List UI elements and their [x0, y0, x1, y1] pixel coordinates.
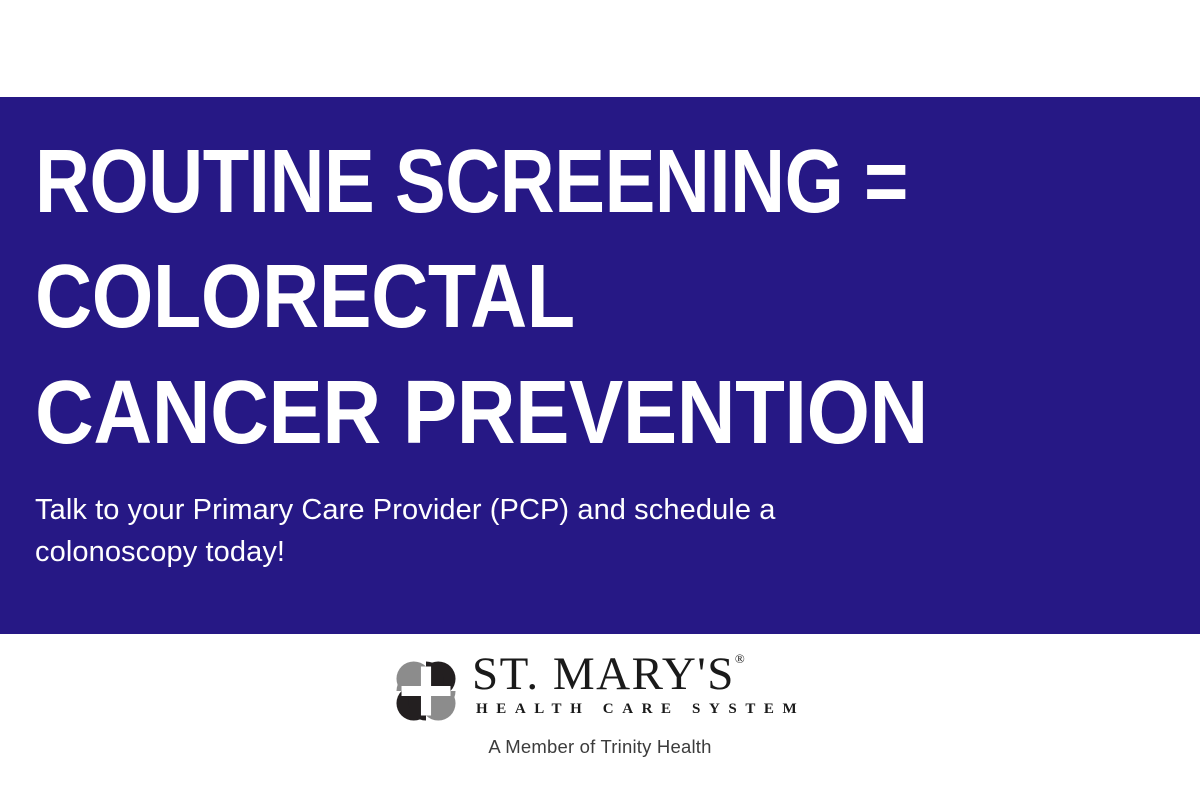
- blue-banner: ROUTINE SCREENING = COLORECTAL CANCER PR…: [0, 97, 1200, 634]
- headline-line-3: CANCER PREVENTION: [35, 368, 1056, 458]
- st-marys-pinwheel-icon: [390, 655, 462, 727]
- st-marys-wordmark: ST. MARY'S® HEALTH CARE SYSTEM: [472, 650, 807, 718]
- subheading: Talk to your Primary Care Provider (PCP)…: [35, 489, 935, 573]
- headline-line-1: ROUTINE SCREENING =: [35, 137, 988, 227]
- brand-name: ST. MARY'S®: [472, 650, 807, 699]
- page-title: ROUTINE SCREENING = COLORECTAL CANCER PR…: [35, 137, 1163, 458]
- poster-canvas: ROUTINE SCREENING = COLORECTAL CANCER PR…: [0, 0, 1200, 801]
- brand-name-text: ST. MARY'S: [472, 648, 735, 700]
- banner-content: ROUTINE SCREENING = COLORECTAL CANCER PR…: [35, 97, 1170, 634]
- brand-subtitle: HEALTH CARE SYSTEM: [472, 701, 807, 718]
- st-marys-logo: ST. MARY'S® HEALTH CARE SYSTEM A Member …: [390, 650, 810, 758]
- registered-trademark-icon: ®: [735, 651, 745, 666]
- logo-lockup: ST. MARY'S® HEALTH CARE SYSTEM: [390, 650, 810, 726]
- subheading-line-1: Talk to your Primary Care Provider (PCP)…: [35, 489, 935, 531]
- trinity-health-member-line: A Member of Trinity Health: [390, 736, 810, 758]
- headline-line-2: COLORECTAL: [35, 252, 1028, 342]
- subheading-line-2: colonoscopy today!: [35, 531, 935, 573]
- footer: ST. MARY'S® HEALTH CARE SYSTEM A Member …: [0, 634, 1200, 801]
